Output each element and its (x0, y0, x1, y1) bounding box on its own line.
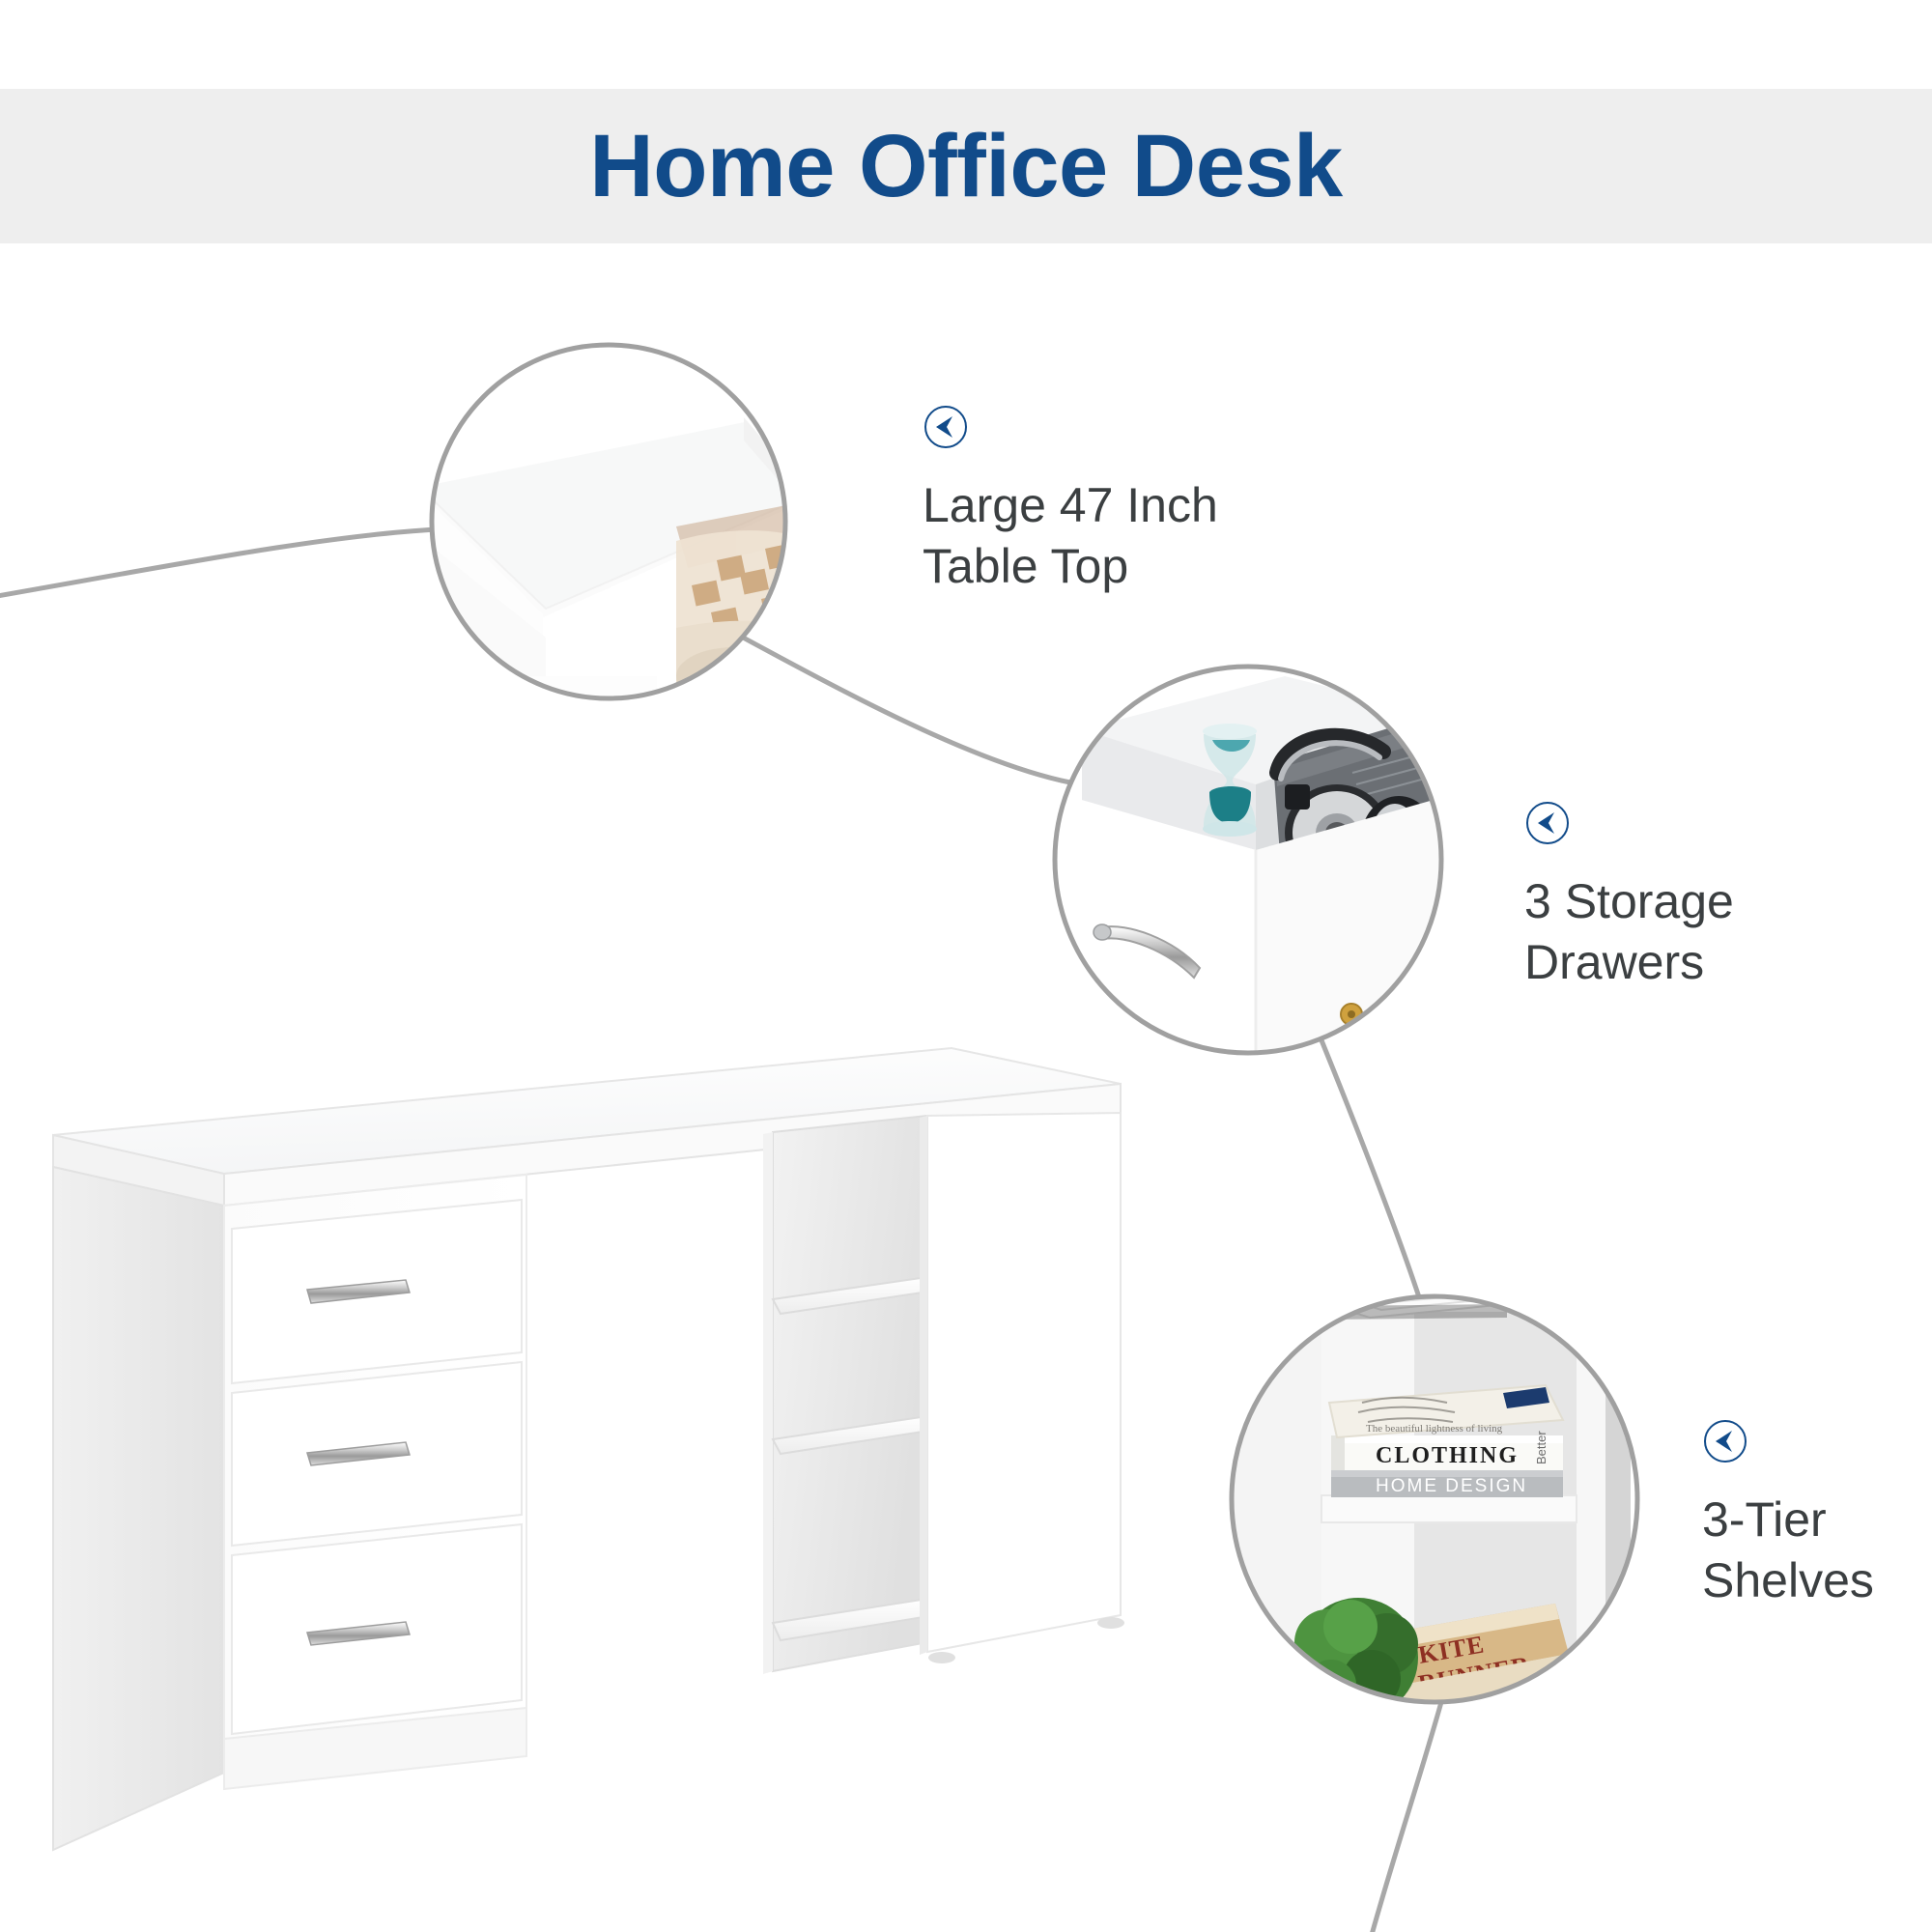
detail-circle-open-drawer: ANTIQUE (1053, 665, 1449, 1065)
desk-foot-right (1097, 1617, 1124, 1629)
connector-bottom-edge (1370, 1702, 1441, 1932)
connector-c2-c3 (1320, 1036, 1422, 1306)
shelf-divider-left (763, 1132, 773, 1674)
callout-table-top: Large 47 Inch Table Top (923, 404, 1218, 597)
book-stack: HOME DESIGN CLOTHING Better The beautifu… (1329, 1385, 1563, 1497)
detail-circle-shelves: HOME DESIGN CLOTHING Better The beautifu… (1229, 1283, 1639, 1745)
chevron-left-circle-icon (1702, 1418, 1748, 1464)
chevron-left-circle-icon (923, 404, 969, 450)
shelf-panel-edge (920, 1116, 927, 1655)
top-papers (1333, 1283, 1520, 1320)
callout-tier-shelves: 3-Tier Shelves (1702, 1418, 1874, 1611)
pedestal-left-side-panel (53, 1167, 224, 1850)
desk-foot-left (928, 1652, 955, 1663)
svg-text:Better: Better (1534, 1431, 1548, 1464)
callout-table-top-label: Large 47 Inch Table Top (923, 475, 1218, 597)
callout-storage-drawers: 3 Storage Drawers (1524, 800, 1734, 993)
chevron-left-circle-icon (1524, 800, 1571, 846)
shelf-cavity-back (773, 1116, 927, 1671)
detail-circle-table-top (415, 338, 815, 734)
callout-storage-drawers-label: 3 Storage Drawers (1524, 871, 1734, 993)
svg-text:CLOTHING: CLOTHING (1376, 1443, 1519, 1468)
shelf-outer-right-panel (927, 1113, 1121, 1652)
svg-text:HOME DESIGN: HOME DESIGN (1376, 1476, 1527, 1496)
svg-text:The beautiful lightness of liv: The beautiful lightness of living (1366, 1423, 1503, 1435)
potted-plant (1294, 1598, 1418, 1745)
callout-tier-shelves-label: 3-Tier Shelves (1702, 1490, 1874, 1611)
infographic-canvas: Home Office Desk (0, 0, 1932, 1932)
connector-left-edge (0, 529, 437, 599)
connector-c1-c2 (734, 633, 1070, 782)
product-photo-desk (53, 1048, 1124, 1850)
